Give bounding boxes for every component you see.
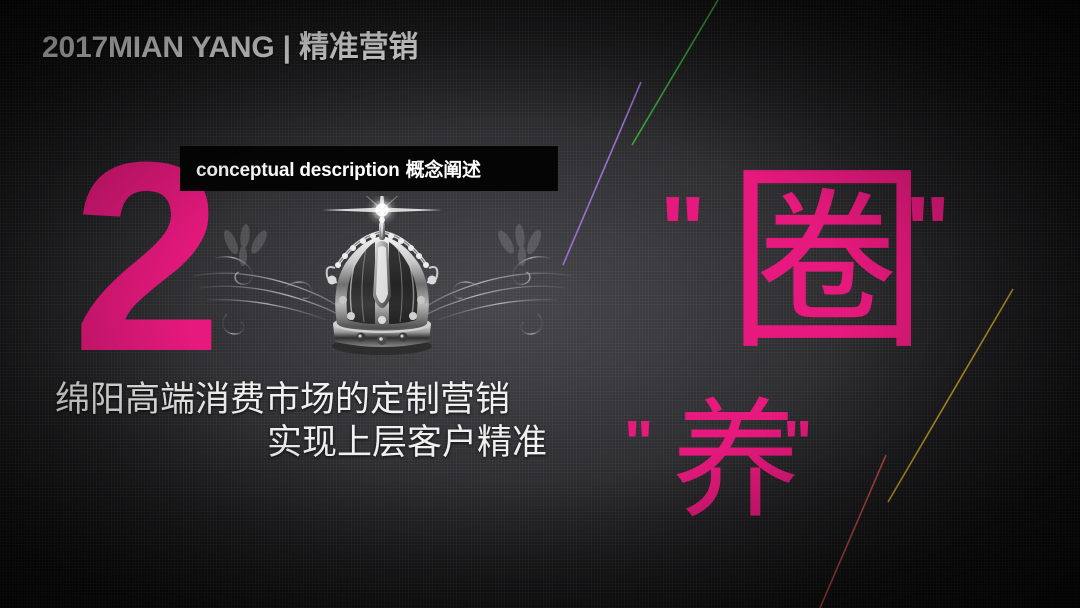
tagline-line-1: 绵阳高端消费市场的定制营销 xyxy=(55,379,510,421)
decor-line-green xyxy=(632,0,718,145)
quote-open-quan: " xyxy=(660,183,706,279)
keyword-character-quan: 圈 xyxy=(727,162,927,362)
section-banner: conceptual description概念阐述 xyxy=(180,146,558,191)
section-banner-label-cn: 概念阐述 xyxy=(400,160,481,181)
ornament-leaf-left xyxy=(221,224,270,266)
quote-close-yang: " xyxy=(783,413,812,475)
ornament-leaf-right xyxy=(495,224,544,266)
keyword-character-yang: 养 xyxy=(672,398,800,526)
crown-illustration xyxy=(185,196,580,376)
presentation-slide: 2017MIAN YANG | 精准营销 2 xyxy=(0,0,1080,608)
quote-open-yang: " xyxy=(624,413,653,475)
page-title: 2017MIAN YANG | 精准营销 xyxy=(42,22,418,66)
decor-line-purple xyxy=(563,82,641,265)
crown-finial xyxy=(371,199,393,240)
crown-body xyxy=(335,236,429,329)
section-banner-label-en: conceptual description xyxy=(196,160,400,181)
crown-arches xyxy=(327,231,438,324)
section-banner-text: conceptual description概念阐述 xyxy=(180,155,481,182)
crown-base xyxy=(332,315,432,355)
quote-close-quan: " xyxy=(905,183,951,279)
ornament-flourish-left xyxy=(193,257,377,334)
sparkle-icon xyxy=(322,196,442,240)
tagline-line-2: 实现上层客户精准 xyxy=(267,422,547,464)
decor-line-red xyxy=(820,455,886,608)
ornament-flourish-right xyxy=(388,257,572,334)
